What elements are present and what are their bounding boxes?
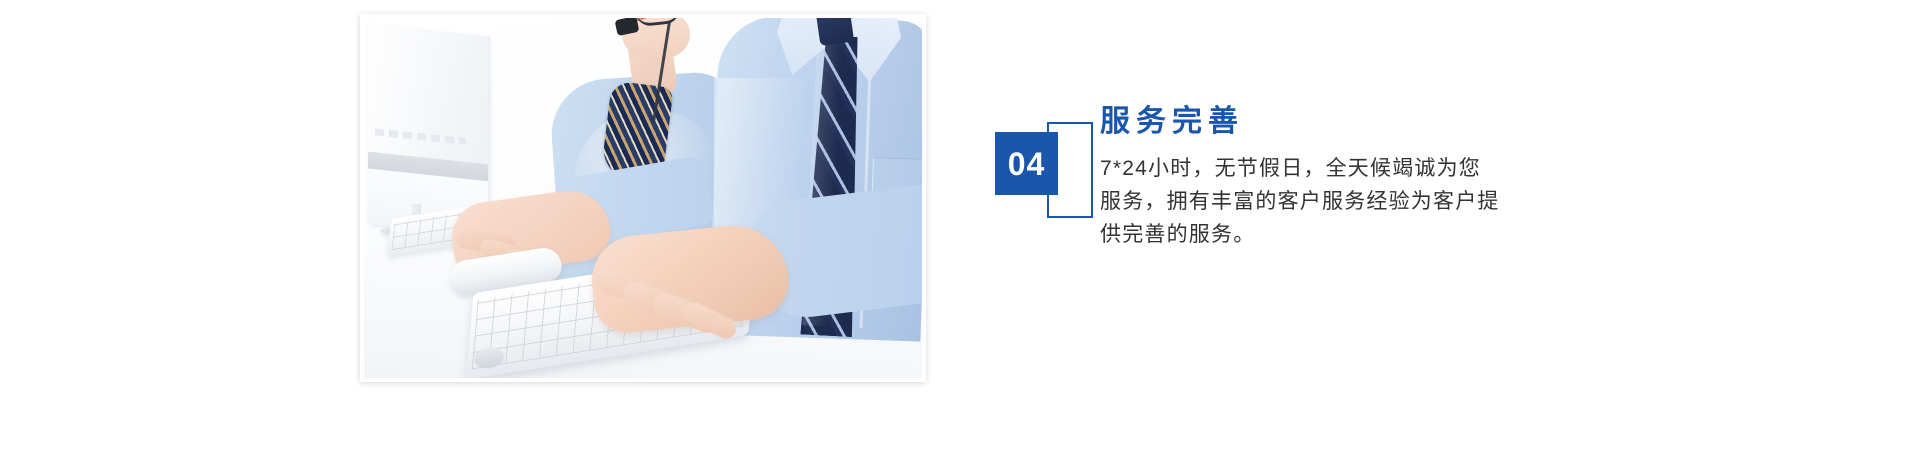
badge-filled-square: 04	[995, 132, 1058, 195]
monitor-screen-text	[375, 128, 466, 145]
badge-number-label: 04	[1008, 148, 1046, 180]
photo-frame	[360, 14, 926, 382]
customer-service-photo	[364, 18, 922, 378]
feature-heading: 服务完善	[1100, 104, 1520, 140]
service-feature-banner: 04 服务完善 7*24小时，无节假日，全天候竭诚为您服务，拥有丰富的客户服务经…	[0, 0, 1920, 452]
feature-description: 7*24小时，无节假日，全天候竭诚为您服务，拥有丰富的客户服务经验为客户提供完善…	[1100, 152, 1500, 251]
feature-text-column: 服务完善 7*24小时，无节假日，全天候竭诚为您服务，拥有丰富的客户服务经验为客…	[1100, 104, 1520, 251]
necktie-knot	[816, 18, 854, 46]
